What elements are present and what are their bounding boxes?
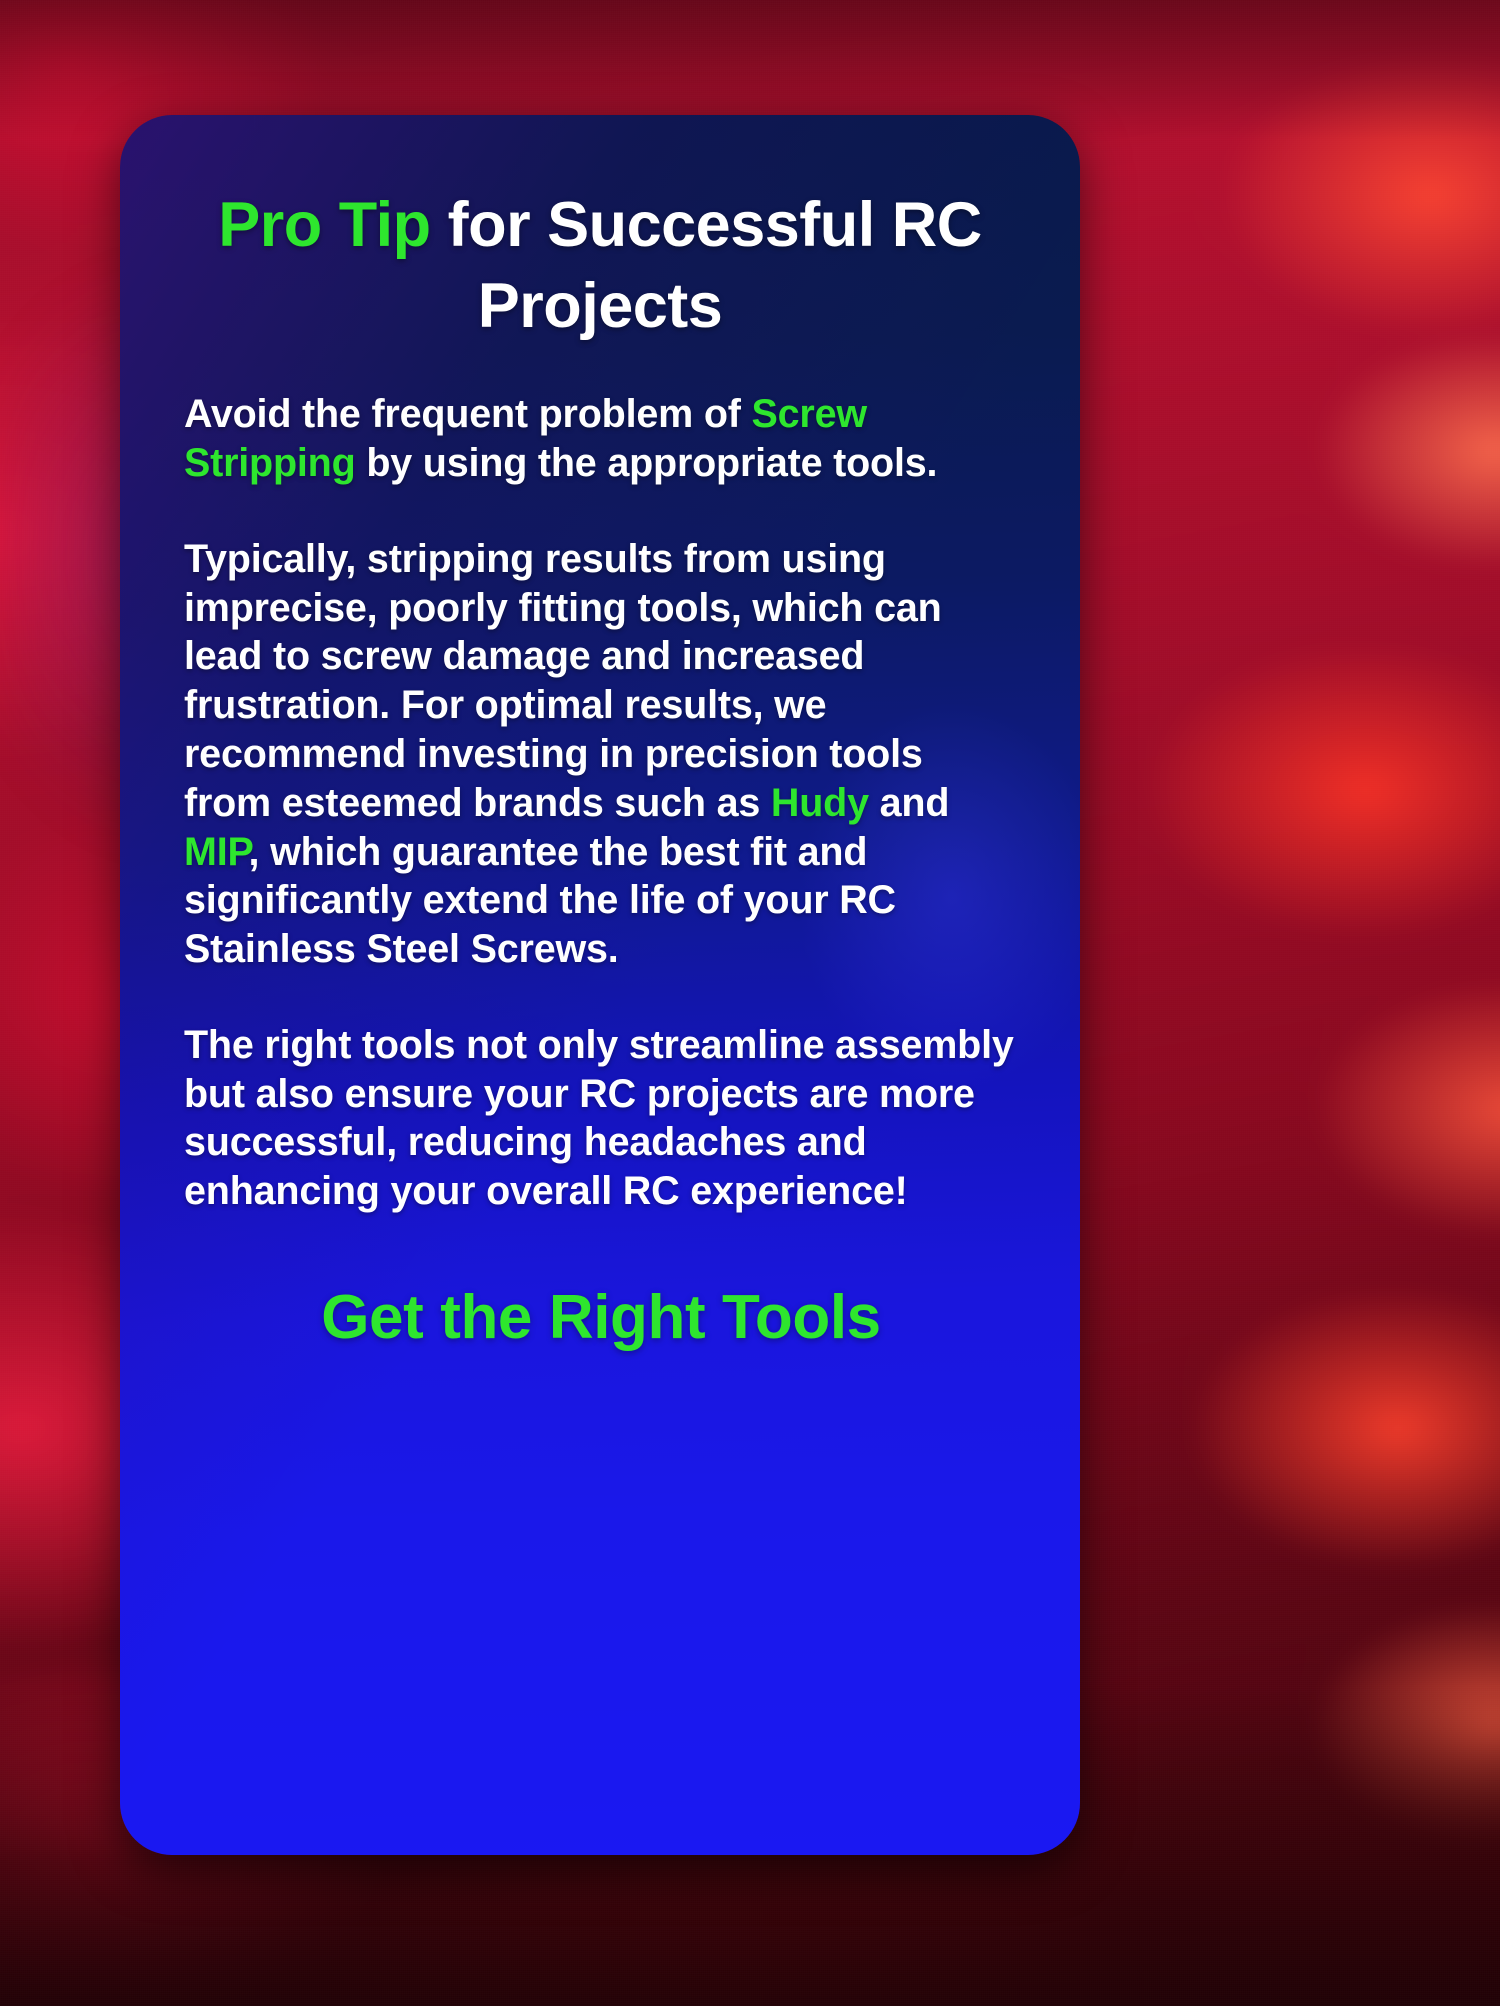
text-segment-accent-hudy: Hudy bbox=[771, 781, 869, 825]
paragraph-intro: Avoid the frequent problem of Screw Stri… bbox=[184, 390, 1018, 488]
text-segment: and bbox=[869, 781, 949, 825]
text-segment-accent-mip: MIP bbox=[184, 830, 249, 874]
card-body: Avoid the frequent problem of Screw Stri… bbox=[120, 390, 1080, 1353]
text-segment: Avoid the frequent problem of bbox=[184, 392, 751, 436]
text-segment: The right tools not only streamline asse… bbox=[184, 1023, 1014, 1213]
pro-tip-card: Pro Tip for Successful RC Projects Avoid… bbox=[120, 115, 1080, 1855]
text-segment: by using the appropriate tools. bbox=[356, 441, 938, 485]
cta-get-the-right-tools[interactable]: Get the Right Tools bbox=[184, 1282, 1018, 1353]
paragraph-explanation: Typically, stripping results from using … bbox=[184, 535, 1018, 974]
headline-highlight: Pro Tip bbox=[218, 190, 430, 260]
cta-label: Get the Right Tools bbox=[321, 1283, 881, 1352]
paragraph-benefit: The right tools not only streamline asse… bbox=[184, 1021, 1018, 1216]
text-segment: , which guarantee the best fit and signi… bbox=[184, 830, 896, 972]
page-title: Pro Tip for Successful RC Projects bbox=[120, 115, 1080, 346]
headline-rest: for Successful RC Projects bbox=[431, 190, 982, 341]
